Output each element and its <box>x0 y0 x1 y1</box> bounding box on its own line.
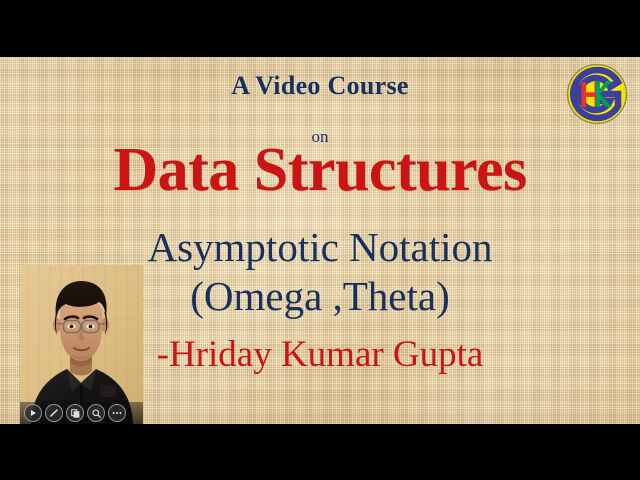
letterbox-bar-bottom <box>0 424 640 480</box>
letterbox-bar-top <box>0 0 640 57</box>
slide-title: Data Structures <box>0 138 640 204</box>
search-icon[interactable] <box>87 404 105 422</box>
slide-eyebrow: A Video Course <box>0 71 640 101</box>
video-player-screen: A Video Course on Data Structures Asympt… <box>0 0 640 480</box>
slide-subtitle-line-1: Asymptotic Notation <box>0 223 640 271</box>
presentation-slide: A Video Course on Data Structures Asympt… <box>0 57 640 424</box>
copy-icon[interactable] <box>66 404 84 422</box>
more-icon[interactable] <box>108 404 126 422</box>
presenter-webcam-overlay[interactable] <box>20 265 143 424</box>
presenter-video-frame <box>20 265 143 424</box>
hkg-logo <box>564 61 630 127</box>
webcam-toolbar[interactable] <box>20 402 143 424</box>
hkg-logo-svg <box>564 61 630 127</box>
play-icon[interactable] <box>24 404 42 422</box>
pen-icon[interactable] <box>45 404 63 422</box>
